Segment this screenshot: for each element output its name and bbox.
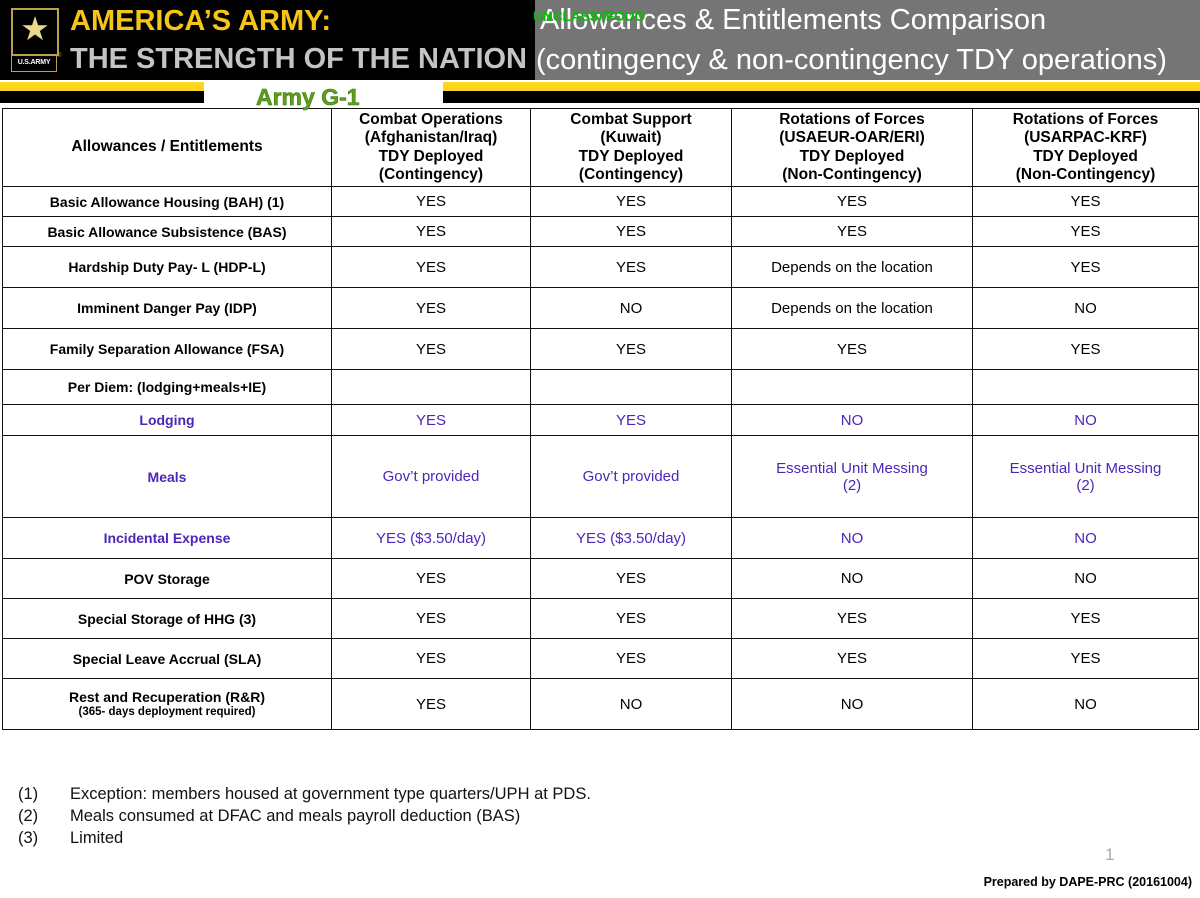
table-row: Rest and Recuperation (R&R) (365- days d… <box>3 679 1199 730</box>
footnote-number: (1) <box>18 783 70 805</box>
table-header-row: Allowances / Entitlements Combat Operati… <box>3 109 1199 187</box>
row-label: POV Storage <box>3 559 332 599</box>
cell-line-1: Essential Unit Messing <box>776 460 928 477</box>
row-label: Hardship Duty Pay- L (HDP-L) <box>3 247 332 288</box>
cell-line-1: Essential Unit Messing <box>1010 460 1162 477</box>
row-cell: NO <box>732 518 973 559</box>
army-star-icon: ★ <box>11 8 59 56</box>
page-number: 1 <box>1105 845 1114 865</box>
row-cell: Essential Unit Messing (2) <box>732 436 973 518</box>
row-cell: YES <box>732 187 973 217</box>
row-cell: YES <box>531 599 732 639</box>
star-glyph-icon: ★ <box>17 11 53 47</box>
row-cell: YES <box>332 247 531 288</box>
col-header-line-3: TDY Deployed <box>379 148 484 165</box>
trademark-icon: ® <box>57 53 61 59</box>
row-label: Imminent Danger Pay (IDP) <box>3 288 332 329</box>
row-cell <box>732 370 973 405</box>
col-header-combat-operations: Combat Operations (Afghanistan/Iraq) TDY… <box>332 109 531 187</box>
row-cell: NO <box>973 559 1199 599</box>
row-cell <box>973 370 1199 405</box>
table-row: Family Separation Allowance (FSA) YES YE… <box>3 329 1199 370</box>
rule-yellow-right <box>443 82 1200 91</box>
rule-yellow-mid <box>178 82 204 91</box>
row-label: Lodging <box>3 405 332 436</box>
row-cell: NO <box>732 679 973 730</box>
row-cell <box>531 370 732 405</box>
row-cell: YES <box>332 288 531 329</box>
row-cell: NO <box>973 518 1199 559</box>
col-header-combat-support: Combat Support (Kuwait) TDY Deployed (Co… <box>531 109 732 187</box>
col-header-rotations-usaeur: Rotations of Forces (USAEUR-OAR/ERI) TDY… <box>732 109 973 187</box>
classification-marking: UNCLASS//FOUO <box>533 8 645 24</box>
row-cell: NO <box>531 288 732 329</box>
row-cell: YES <box>732 329 973 370</box>
footnote-text: Limited <box>70 827 918 849</box>
row-cell: NO <box>973 679 1199 730</box>
row-cell: Gov’t provided <box>531 436 732 518</box>
col-header-entitlements: Allowances / Entitlements <box>3 109 332 187</box>
row-cell: YES ($3.50/day) <box>531 518 732 559</box>
table-row: Special Storage of HHG (3) YES YES YES Y… <box>3 599 1199 639</box>
row-cell: NO <box>732 559 973 599</box>
col-header-line-4: (Non-Contingency) <box>1016 166 1155 183</box>
row-cell: YES <box>531 559 732 599</box>
row-cell: Depends on the location <box>732 247 973 288</box>
row-cell: YES <box>332 187 531 217</box>
row-label: Incidental Expense <box>3 518 332 559</box>
col-header-line-3: TDY Deployed <box>800 148 905 165</box>
col-header-line-2: (USARPAC-KRF) <box>1024 129 1147 146</box>
row-cell: YES <box>973 639 1199 679</box>
row-cell: YES <box>732 599 973 639</box>
comparison-table-wrap: Allowances / Entitlements Combat Operati… <box>2 108 1198 730</box>
page-subtitle: (contingency & non-contingency TDY opera… <box>536 44 1200 77</box>
col-header-line-4: (Contingency) <box>579 166 683 183</box>
row-label-main: Rest and Recuperation (R&R) <box>69 689 265 705</box>
col-header-line-3: TDY Deployed <box>579 148 684 165</box>
comparison-table: Allowances / Entitlements Combat Operati… <box>2 108 1199 730</box>
table-row: Special Leave Accrual (SLA) YES YES YES … <box>3 639 1199 679</box>
row-label: Special Leave Accrual (SLA) <box>3 639 332 679</box>
row-cell: YES <box>332 679 531 730</box>
footnote-text: Meals consumed at DFAC and meals payroll… <box>70 805 918 827</box>
col-header-line-4: (Non-Contingency) <box>782 166 921 183</box>
rule-black-mid <box>178 91 204 103</box>
col-header-line-2: (USAEUR-OAR/ERI) <box>779 129 925 146</box>
row-cell: YES <box>332 639 531 679</box>
row-cell: YES <box>973 187 1199 217</box>
footnotes: (1) Exception: members housed at governm… <box>18 783 918 849</box>
row-cell: Gov’t provided <box>332 436 531 518</box>
footnote-item: (3) Limited <box>18 827 918 849</box>
col-header-line-1: Combat Support <box>570 111 691 128</box>
row-cell: YES <box>332 599 531 639</box>
col-header-line-1: Rotations of Forces <box>779 111 925 128</box>
table-row: Imminent Danger Pay (IDP) YES NO Depends… <box>3 288 1199 329</box>
row-label: Basic Allowance Subsistence (BAS) <box>3 217 332 247</box>
row-label: Special Storage of HHG (3) <box>3 599 332 639</box>
row-cell: YES <box>531 187 732 217</box>
row-cell: YES <box>531 639 732 679</box>
army-logo: ★ U.S.ARMY ® <box>4 5 60 75</box>
row-cell: YES <box>973 599 1199 639</box>
rule-yellow-left <box>0 82 178 91</box>
col-header-line-2: (Afghanistan/Iraq) <box>365 129 498 146</box>
row-label: Per Diem: (lodging+meals+IE) <box>3 370 332 405</box>
row-cell: Depends on the location <box>732 288 973 329</box>
row-cell: YES <box>531 405 732 436</box>
footnote-text: Exception: members housed at government … <box>70 783 918 805</box>
row-cell: YES <box>973 247 1199 288</box>
cell-line-2: (2) <box>843 477 861 494</box>
row-cell: Essential Unit Messing (2) <box>973 436 1199 518</box>
footnote-item: (1) Exception: members housed at governm… <box>18 783 918 805</box>
row-cell: YES <box>332 405 531 436</box>
table-row: Per Diem: (lodging+meals+IE) <box>3 370 1199 405</box>
prepared-by-label: Prepared by DAPE-PRC (20161004) <box>984 875 1192 889</box>
table-row: Hardship Duty Pay- L (HDP-L) YES YES Dep… <box>3 247 1199 288</box>
row-label: Rest and Recuperation (R&R) (365- days d… <box>3 679 332 730</box>
rule-black-right <box>443 91 1200 103</box>
row-label: Meals <box>3 436 332 518</box>
col-header-rotations-usarpac: Rotations of Forces (USARPAC-KRF) TDY De… <box>973 109 1199 187</box>
row-label: Family Separation Allowance (FSA) <box>3 329 332 370</box>
col-header-line-2: (Kuwait) <box>600 129 661 146</box>
row-label: Basic Allowance Housing (BAH) (1) <box>3 187 332 217</box>
row-cell: YES <box>332 329 531 370</box>
row-cell: YES <box>973 329 1199 370</box>
row-cell: YES <box>973 217 1199 247</box>
row-cell: YES <box>332 559 531 599</box>
rule-black-left <box>0 91 178 103</box>
table-row: Incidental Expense YES ($3.50/day) YES (… <box>3 518 1199 559</box>
row-cell: NO <box>732 405 973 436</box>
cell-line-2: (2) <box>1076 477 1094 494</box>
footnote-item: (2) Meals consumed at DFAC and meals pay… <box>18 805 918 827</box>
col-header-line-1: Combat Operations <box>359 111 503 128</box>
table-row: Lodging YES YES NO NO <box>3 405 1199 436</box>
brand-line-2: THE STRENGTH OF THE NATION <box>70 43 527 76</box>
army-logo-label: U.S.ARMY <box>11 55 57 72</box>
row-cell: YES <box>732 639 973 679</box>
row-cell: NO <box>973 405 1199 436</box>
row-cell: YES <box>531 247 732 288</box>
col-header-line-1: Rotations of Forces <box>1013 111 1159 128</box>
row-cell <box>332 370 531 405</box>
table-row: Basic Allowance Subsistence (BAS) YES YE… <box>3 217 1199 247</box>
row-cell: YES <box>332 217 531 247</box>
col-header-line-3: TDY Deployed <box>1033 148 1138 165</box>
col-header-line-4: (Contingency) <box>379 166 483 183</box>
row-cell: YES <box>531 329 732 370</box>
row-cell: YES <box>732 217 973 247</box>
row-cell: YES <box>531 217 732 247</box>
row-label-sub: (365- days deployment required) <box>6 706 328 719</box>
table-row: Meals Gov’t provided Gov’t provided Esse… <box>3 436 1199 518</box>
footnote-number: (2) <box>18 805 70 827</box>
brand-line-1: AMERICA’S ARMY: <box>70 5 331 38</box>
footnote-number: (3) <box>18 827 70 849</box>
row-cell: NO <box>531 679 732 730</box>
row-cell: YES ($3.50/day) <box>332 518 531 559</box>
table-row: POV Storage YES YES NO NO <box>3 559 1199 599</box>
table-row: Basic Allowance Housing (BAH) (1) YES YE… <box>3 187 1199 217</box>
slide-root: ★ U.S.ARMY ® AMERICA’S ARMY: THE STRENGT… <box>0 0 1200 898</box>
row-cell: NO <box>973 288 1199 329</box>
unit-label: Army G-1 <box>256 84 360 111</box>
